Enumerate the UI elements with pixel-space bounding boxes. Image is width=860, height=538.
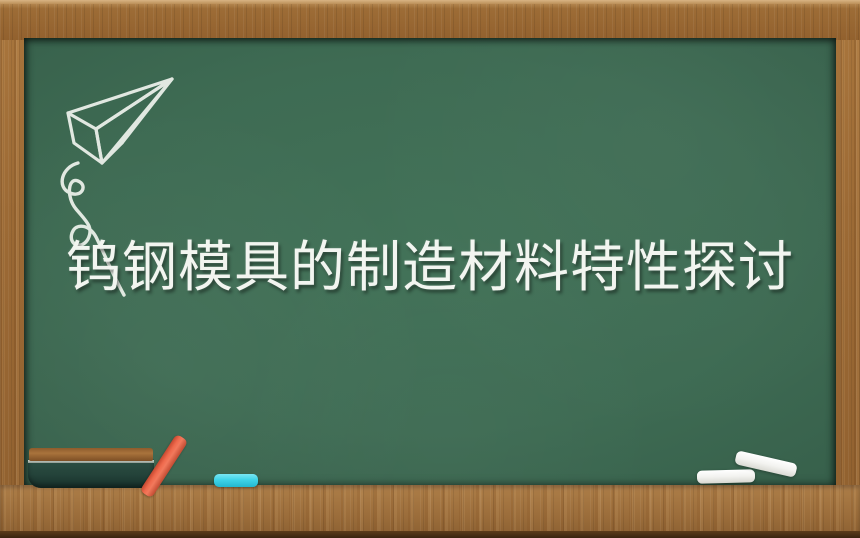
eraser-top bbox=[29, 448, 153, 461]
chalk-white-flat bbox=[697, 469, 755, 484]
page-title: 钨钢模具的制造材料特性探讨 bbox=[24, 233, 836, 302]
chalkboard-slide: 钨钢模具的制造材料特性探讨 bbox=[0, 0, 860, 538]
chalk-cyan bbox=[214, 474, 258, 487]
wooden-frame-top-rail bbox=[0, 0, 860, 40]
blackboard-eraser bbox=[28, 448, 154, 488]
paper-plane-icon bbox=[56, 71, 184, 171]
chalk-ledge bbox=[0, 485, 860, 538]
chalkboard-surface: 钨钢模具的制造材料特性探讨 bbox=[24, 38, 836, 488]
